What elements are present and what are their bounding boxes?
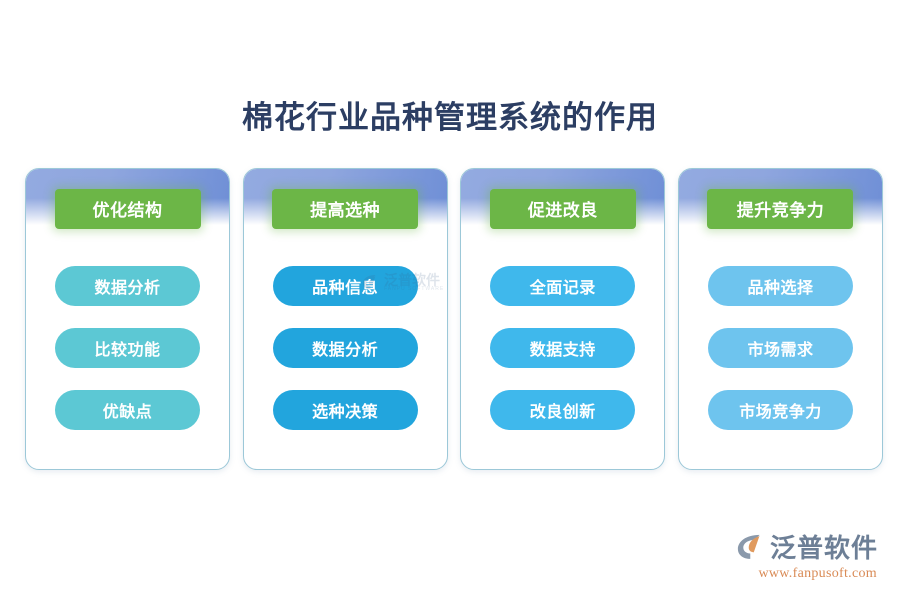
pill-item[interactable]: 改良创新: [490, 390, 635, 430]
pill-item[interactable]: 优缺点: [55, 390, 200, 430]
card-optimize-structure[interactable]: 优化结构 数据分析 比较功能 优缺点: [25, 168, 230, 470]
pill-item[interactable]: 数据分析: [273, 328, 418, 368]
pill-item[interactable]: 品种选择: [708, 266, 853, 306]
pill-item[interactable]: 数据分析: [55, 266, 200, 306]
fanpu-logo-icon: [734, 531, 765, 562]
brand-url: www.fanpusoft.com: [758, 566, 877, 582]
card-tag-optimize-structure: 优化结构: [55, 189, 201, 229]
pill-item[interactable]: 市场竞争力: [708, 390, 853, 430]
card-tag-boost-competitiveness: 提升竞争力: [707, 189, 853, 229]
card-items-boost-competitiveness: 品种选择 市场需求 市场竞争力: [679, 266, 882, 430]
card-items-promote-improvement: 全面记录 数据支持 改良创新: [461, 266, 664, 430]
brand-name: 泛普软件: [770, 528, 878, 565]
cards-row: 优化结构 数据分析 比较功能 优缺点 提高选种 品种信息 数据分析 选种决策 促…: [25, 168, 883, 470]
page-title: 棉花行业品种管理系统的作用: [0, 92, 900, 137]
card-items-improve-selection: 品种信息 数据分析 选种决策: [244, 266, 447, 430]
card-tag-promote-improvement: 促进改良: [490, 189, 636, 229]
card-improve-selection[interactable]: 提高选种 品种信息 数据分析 选种决策: [243, 168, 448, 470]
pill-item[interactable]: 市场需求: [708, 328, 853, 368]
card-tag-improve-selection: 提高选种: [272, 189, 418, 229]
brand-logo: 泛普软件 www.fanpusoft.com: [734, 528, 878, 582]
brand-top: 泛普软件: [734, 528, 878, 565]
pill-item[interactable]: 数据支持: [490, 328, 635, 368]
card-promote-improvement[interactable]: 促进改良 全面记录 数据支持 改良创新: [460, 168, 665, 470]
pill-item[interactable]: 品种信息: [273, 266, 418, 306]
pill-item[interactable]: 全面记录: [490, 266, 635, 306]
card-boost-competitiveness[interactable]: 提升竞争力 品种选择 市场需求 市场竞争力: [678, 168, 883, 470]
card-items-optimize-structure: 数据分析 比较功能 优缺点: [26, 266, 229, 430]
pill-item[interactable]: 选种决策: [273, 390, 418, 430]
pill-item[interactable]: 比较功能: [55, 328, 200, 368]
